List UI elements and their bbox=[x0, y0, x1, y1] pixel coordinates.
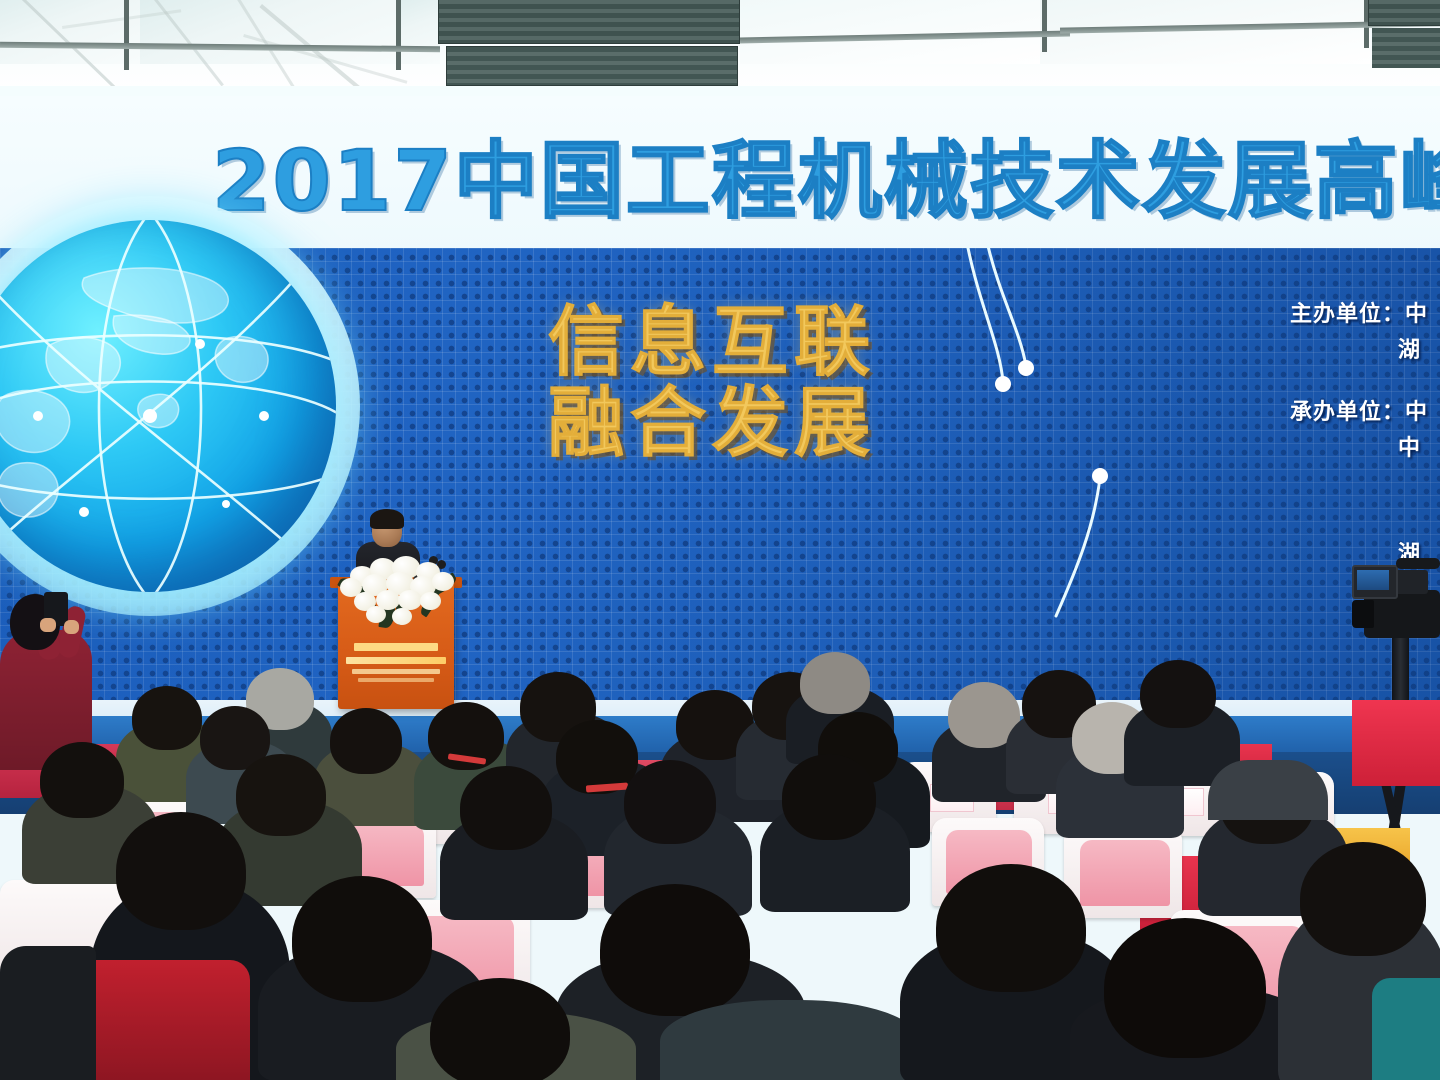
camera-microphone bbox=[1396, 558, 1440, 569]
conference-photo: 2017中国工程机械技术发展高峰 bbox=[0, 0, 1440, 1080]
attendee-head bbox=[460, 766, 552, 850]
globe-network-svg bbox=[0, 220, 336, 592]
attendee-head bbox=[800, 652, 870, 714]
organizer-co-line2: 中 bbox=[1290, 430, 1440, 462]
attendee-head bbox=[936, 864, 1086, 992]
attendee-head bbox=[236, 754, 326, 836]
attendee-hand-left bbox=[40, 618, 56, 632]
banner-slogan: 信息互联 融合发展 bbox=[548, 301, 876, 464]
attendee-head bbox=[624, 760, 716, 844]
chair-cushion bbox=[1080, 840, 1170, 906]
podium-banner-title bbox=[354, 643, 438, 651]
speaker-hair bbox=[370, 509, 404, 529]
attendee-hand-right bbox=[64, 620, 79, 634]
banner-title: 2017中国工程机械技术发展高峰 bbox=[212, 114, 1440, 235]
organizer-host-label: 主办单位：中 bbox=[1290, 296, 1440, 328]
attendee-head bbox=[40, 742, 124, 818]
podium-banner-english-2 bbox=[358, 678, 434, 682]
organizer-host-line2: 湖 bbox=[1290, 332, 1440, 364]
slogan-line-2: 融合发展 bbox=[548, 382, 876, 463]
attendee-head bbox=[132, 686, 202, 750]
table-cover-red-2 bbox=[1352, 700, 1440, 786]
attendee-head bbox=[1140, 660, 1216, 728]
organizer-block: 主办单位：中 湖 承办单位：中 中 湖 bbox=[1290, 296, 1440, 568]
attendee-head bbox=[782, 754, 876, 840]
attendee-head bbox=[1104, 918, 1266, 1058]
globe-sphere bbox=[0, 220, 336, 592]
attendee-jacket-black bbox=[0, 946, 96, 1080]
attendee-head bbox=[1300, 842, 1426, 956]
stage-banner: 2017中国工程机械技术发展高峰 bbox=[0, 96, 1440, 716]
attendee-shoulders bbox=[660, 1000, 920, 1080]
slogan-line-1: 信息互联 bbox=[548, 301, 876, 382]
ceiling-structure bbox=[0, 0, 1440, 92]
flower-arrangement bbox=[336, 556, 460, 622]
attendee-head bbox=[600, 884, 750, 1016]
podium-banner-subtitle bbox=[346, 657, 446, 664]
podium-banner-english bbox=[352, 669, 440, 674]
camera-monitor-screen bbox=[1357, 570, 1389, 590]
attendee-teal-jacket bbox=[1372, 978, 1440, 1080]
globe-graphic bbox=[0, 196, 360, 616]
attendee-head bbox=[430, 978, 570, 1080]
attendee-head bbox=[116, 812, 246, 930]
attendee-head bbox=[292, 876, 432, 1002]
attendee-shoulders bbox=[1208, 760, 1328, 820]
attendee-head bbox=[330, 708, 402, 774]
organizer-co-label: 承办单位：中 bbox=[1290, 394, 1440, 426]
camera-lens bbox=[1352, 600, 1374, 628]
